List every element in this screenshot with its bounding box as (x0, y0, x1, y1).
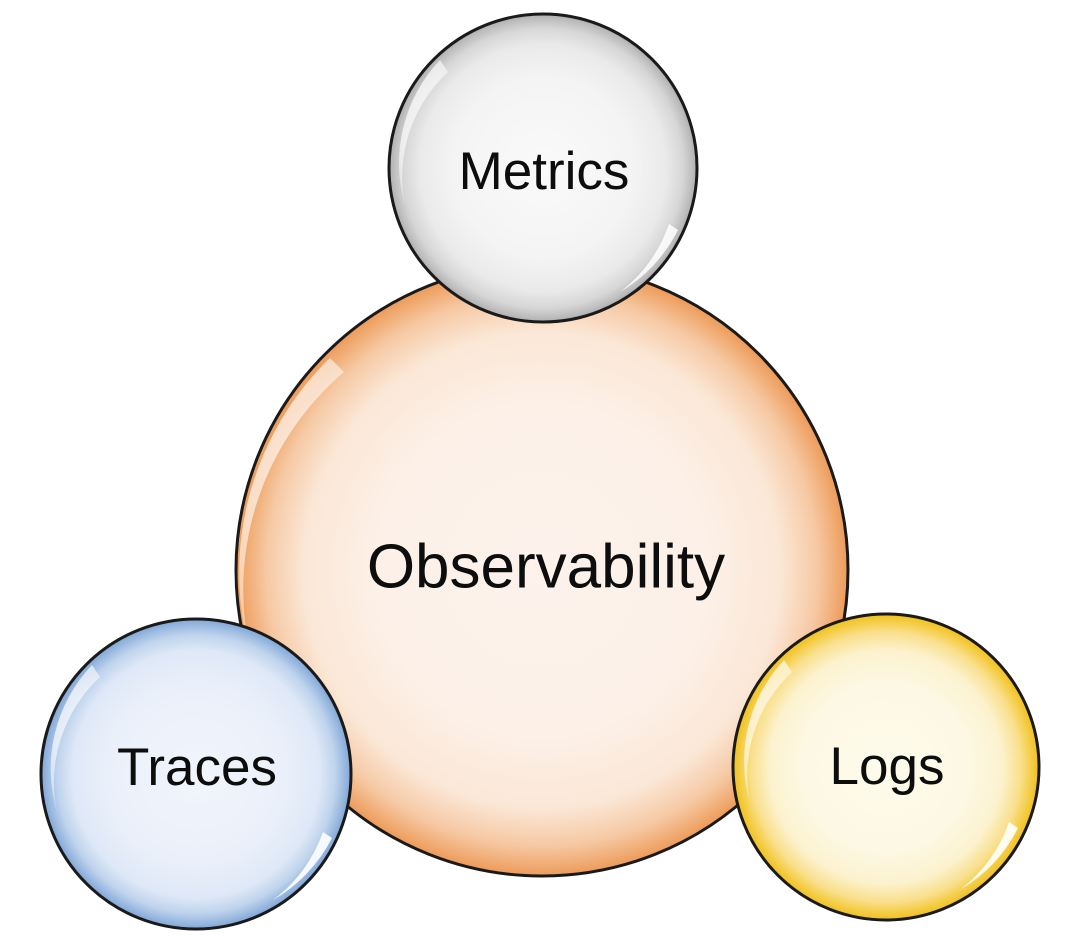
bubble-traces[interactable]: Traces (41, 619, 351, 929)
diagram-canvas: Observability Metrics Traces (0, 0, 1082, 942)
traces-label: Traces (117, 738, 277, 797)
observability-bubble-diagram: Observability Metrics Traces (0, 0, 1082, 942)
metrics-label: Metrics (459, 142, 630, 201)
observability-label: Observability (367, 532, 725, 601)
bubble-logs[interactable]: Logs (733, 614, 1039, 920)
bubble-metrics[interactable]: Metrics (389, 14, 697, 322)
logs-label: Logs (830, 737, 945, 796)
